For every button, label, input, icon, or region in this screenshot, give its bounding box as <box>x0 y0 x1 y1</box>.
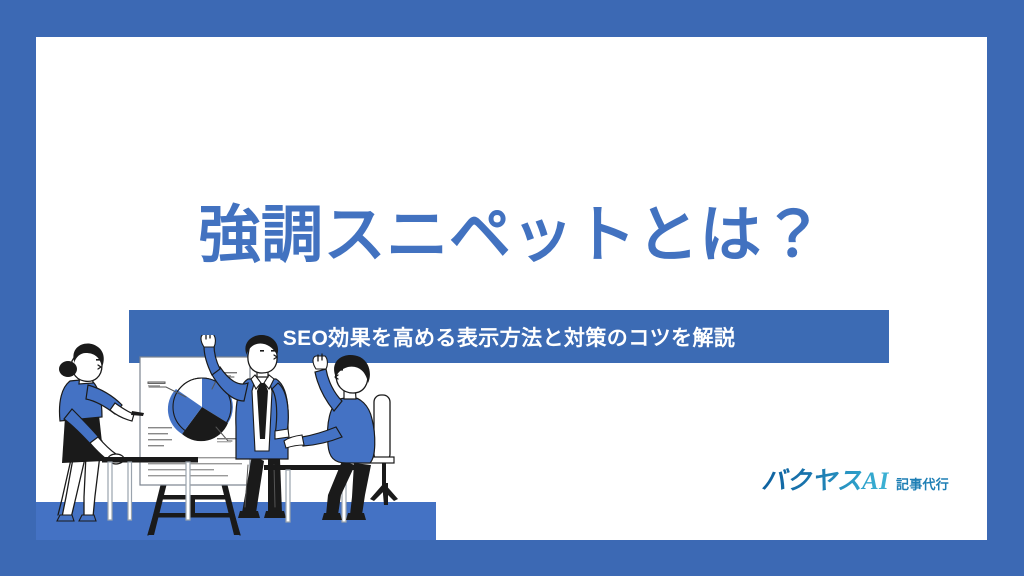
illustration-svg: .bl { fill:#4472C4; } .dk { fill:#1A1A1A… <box>36 335 436 540</box>
seated-man <box>284 354 398 520</box>
page-title: 強調スニペットとは？ <box>36 202 987 270</box>
slide-canvas: 強調スニペットとは？ SEO効果を高める表示方法と対策のコツを解説 バクヤスAI… <box>36 37 987 540</box>
team-presentation-illustration: .bl { fill:#4472C4; } .dk { fill:#1A1A1A… <box>36 335 436 540</box>
brand-logo-suffix: 記事代行 <box>896 474 949 493</box>
title-block: 強調スニペットとは？ <box>36 202 987 270</box>
brand-logo: バクヤスAI 記事代行 <box>761 461 949 497</box>
slide-frame: 強調スニペットとは？ SEO効果を高める表示方法と対策のコツを解説 バクヤスAI… <box>0 0 1024 576</box>
brand-logo-mark: バクヤスAI <box>761 461 889 497</box>
